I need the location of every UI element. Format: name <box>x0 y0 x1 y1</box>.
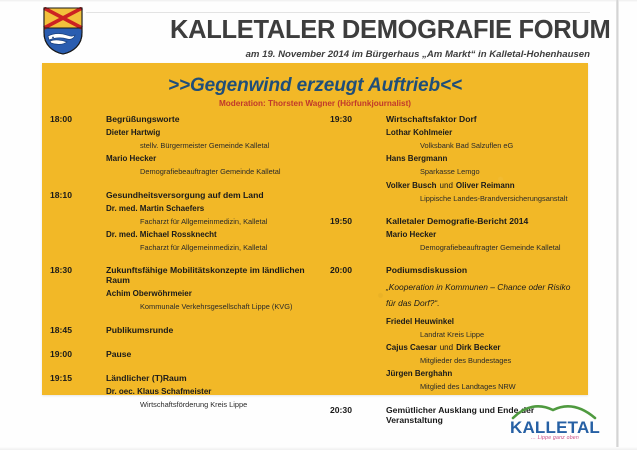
conjunction: und <box>437 181 456 190</box>
speaker-name-pair: Volker BuschundOliver Reimann <box>386 181 580 191</box>
speaker-affiliation: Demografiebeauftragter Gemeinde Kalletal <box>140 167 322 176</box>
speaker-name: Lothar Kohlmeier <box>386 128 580 138</box>
speaker-name: Mario Hecker <box>106 154 322 164</box>
program-column-right: 19:30 Wirtschaftsfaktor Dorf Lothar Kohl… <box>330 114 580 425</box>
slot-title: Wirtschaftsfaktor Dorf <box>386 114 477 124</box>
event-slogan: >>Gegenwind erzeugt Auftrieb<< <box>42 75 588 97</box>
slot-header: 18:45 Publikumsrunde <box>50 325 322 335</box>
speaker-name: Mario Hecker <box>386 230 580 240</box>
speaker-name-2: Oliver Reimann <box>456 181 515 190</box>
program-slot: 19:50 Kalletaler Demografie-Bericht 2014… <box>330 216 580 252</box>
slot-time: 18:30 <box>50 265 106 275</box>
slot-time: 19:30 <box>330 114 386 124</box>
slot-body: Dr. oec. Klaus Schafmeister Wirtschaftsf… <box>106 387 322 409</box>
speaker-name-pair: Cajus CaesarundDirk Becker <box>386 343 580 353</box>
program-slot: 18:10 Gesundheitsversorgung auf dem Land… <box>50 190 322 253</box>
header-divider <box>86 12 590 13</box>
slot-title: Kalletaler Demografie-Bericht 2014 <box>386 216 528 226</box>
slot-body: Mario Hecker Demografiebeauftragter Geme… <box>386 230 580 252</box>
speaker-affiliation: Volksbank Bad Salzuflen eG <box>420 141 580 150</box>
program-slot: 18:00 Begrüßungsworte Dieter Hartwig ste… <box>50 114 322 177</box>
slot-title: Podiumsdiskussion <box>386 265 467 275</box>
program-panel: >>Gegenwind erzeugt Auftrieb<< Moderatio… <box>42 63 588 395</box>
slot-header: 18:00 Begrüßungsworte <box>50 114 322 124</box>
speaker-name: Cajus Caesar <box>386 343 437 352</box>
slot-title: Begrüßungsworte <box>106 114 180 124</box>
speaker-affiliation: stellv. Bürgermeister Gemeinde Kalletal <box>140 141 322 150</box>
event-subtitle: am 19. November 2014 im Bürgerhaus „Am M… <box>140 49 590 60</box>
slot-time: 20:00 <box>330 265 386 275</box>
program-slot: 19:15 Ländlicher (T)Raum Dr. oec. Klaus … <box>50 373 322 409</box>
slot-header: 18:10 Gesundheitsversorgung auf dem Land <box>50 190 322 200</box>
logo-tagline: ... Lippe ganz oben <box>505 435 605 441</box>
program-slot: 18:30 Zukunftsfähige Mobilitätskonzepte … <box>50 265 322 311</box>
slot-body: Dr. med. Martin Schaefers Facharzt für A… <box>106 204 322 253</box>
speaker-name: Volker Busch <box>386 181 437 190</box>
page-edge-right <box>616 0 619 450</box>
speaker-affiliation: Lippische Landes-Brandversicherungsansta… <box>420 194 580 203</box>
speaker-name: Dr. oec. Klaus Schafmeister <box>106 387 322 397</box>
slot-title: Pause <box>106 349 131 359</box>
speaker-affiliation: Facharzt für Allgemeinmedizin, Kalletal <box>140 243 322 252</box>
speaker-affiliation: Landrat Kreis Lippe <box>420 330 580 339</box>
slot-title: Publikumsrunde <box>106 325 173 335</box>
speaker-affiliation: Mitglieder des Bundestages <box>420 356 580 365</box>
conjunction: und <box>437 343 456 352</box>
speaker-affiliation: Wirtschaftsförderung Kreis Lippe <box>140 400 322 409</box>
slot-header: 18:30 Zukunftsfähige Mobilitätskonzepte … <box>50 265 322 285</box>
speaker-name: Achim Oberwöhrmeier <box>106 289 322 299</box>
slot-time: 19:50 <box>330 216 386 226</box>
slot-body: Achim Oberwöhrmeier Kommunale Verkehrsge… <box>106 289 322 311</box>
slot-title: Ländlicher (T)Raum <box>106 373 187 383</box>
speaker-name: Hans Bergmann <box>386 154 580 164</box>
slot-time: 20:30 <box>330 405 386 415</box>
slot-header: 19:00 Pause <box>50 349 322 359</box>
slot-time: 19:15 <box>50 373 106 383</box>
slot-body: Lothar Kohlmeier Volksbank Bad Salzuflen… <box>386 128 580 203</box>
slot-body: Dieter Hartwig stellv. Bürgermeister Gem… <box>106 128 322 177</box>
slot-time: 18:10 <box>50 190 106 200</box>
program-column-left: 18:00 Begrüßungsworte Dieter Hartwig ste… <box>50 114 322 410</box>
program-slot: 19:00 Pause <box>50 349 322 359</box>
speaker-affiliation: Demografiebeauftragter Gemeinde Kalletal <box>420 243 580 252</box>
speaker-affiliation: Facharzt für Allgemeinmedizin, Kalletal <box>140 217 322 226</box>
slot-time: 19:00 <box>50 349 106 359</box>
program-slot: 18:45 Publikumsrunde <box>50 325 322 335</box>
panel-topic-quote-line-2: für das Dorf?“. <box>386 297 580 311</box>
speaker-affiliation: Mitglied des Landtages NRW <box>420 382 580 391</box>
speaker-name: Dieter Hartwig <box>106 128 322 138</box>
speaker-affiliation: Sparkasse Lemgo <box>420 167 580 176</box>
kalletal-coat-of-arms <box>43 7 83 55</box>
speaker-name: Dr. med. Martin Schaefers <box>106 204 322 214</box>
slot-header: 19:15 Ländlicher (T)Raum <box>50 373 322 383</box>
speaker-name-2: Dirk Becker <box>456 343 500 352</box>
scanned-page: KALLETALER DEMOGRAFIE FORUM am 19. Novem… <box>0 0 637 450</box>
slot-title: Zukunftsfähige Mobilitätskonzepte im län… <box>106 265 322 285</box>
kalletal-logo: KALLETAL ... Lippe ganz oben <box>505 404 605 444</box>
slot-time: 18:45 <box>50 325 106 335</box>
slot-header: 19:30 Wirtschaftsfaktor Dorf <box>330 114 580 124</box>
slot-header: 19:50 Kalletaler Demografie-Bericht 2014 <box>330 216 580 226</box>
speaker-name: Jürgen Berghahn <box>386 369 580 379</box>
speaker-affiliation: Kommunale Verkehrsgesellschaft Lippe (KV… <box>140 302 322 311</box>
page-title: KALLETALER DEMOGRAFIE FORUM <box>170 16 590 45</box>
program-slot: 19:30 Wirtschaftsfaktor Dorf Lothar Kohl… <box>330 114 580 203</box>
speaker-name: Friedel Heuwinkel <box>386 317 580 327</box>
moderation-line: Moderation: Thorsten Wagner (Hörfunkjour… <box>42 99 588 108</box>
slot-header: 20:00 Podiumsdiskussion <box>330 265 580 275</box>
speaker-name: Dr. med. Michael Rossknecht <box>106 230 322 240</box>
slot-title: Gesundheitsversorgung auf dem Land <box>106 190 264 200</box>
page-edge-top <box>0 0 637 2</box>
slot-time: 18:00 <box>50 114 106 124</box>
panel-topic-quote-line-1: „Kooperation in Kommunen – Chance oder R… <box>386 281 580 295</box>
slot-body: „Kooperation in Kommunen – Chance oder R… <box>386 281 580 391</box>
program-slot: 20:00 Podiumsdiskussion „Kooperation in … <box>330 265 580 391</box>
